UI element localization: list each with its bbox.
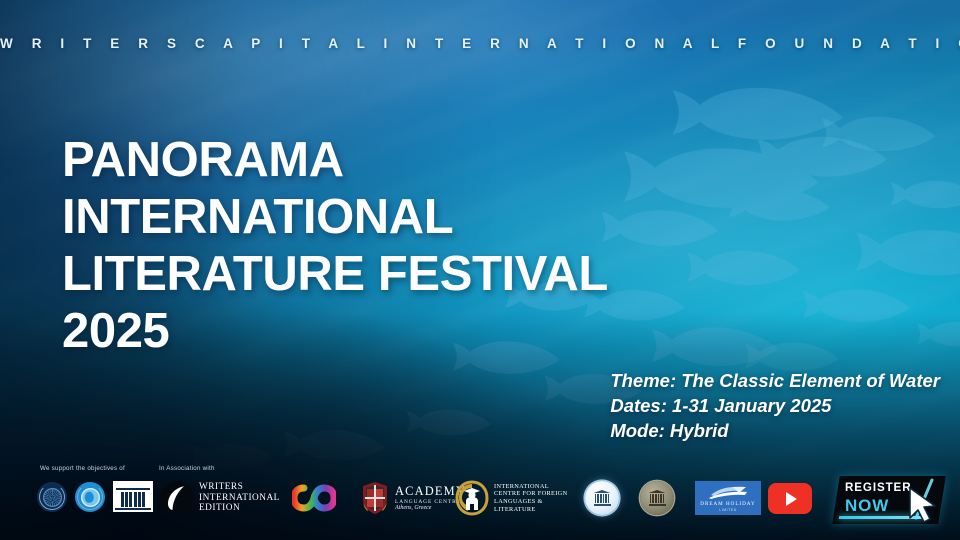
logo-academy-language-centre[interactable]: ACADEMY LANGUAGE CENTRE Athens, Greece	[360, 481, 466, 515]
play-button-icon	[768, 483, 812, 514]
quill-feather-icon	[160, 481, 194, 515]
shield-crest-icon	[360, 481, 390, 515]
icfll-line-4: LITERATURE	[494, 506, 567, 514]
logo-olive-institute[interactable]	[640, 481, 674, 515]
association-label: In Association with	[159, 465, 215, 472]
wie-line-2: INTERNATIONAL	[199, 493, 280, 504]
detail-mode: Mode: Hybrid	[610, 418, 940, 443]
temple-building-icon	[585, 481, 619, 515]
festival-poster: W R I T E R S C A P I T A L I N T E R N …	[0, 0, 960, 540]
logo-icfll[interactable]: INTERNATIONAL CENTRE FOR FOREIGN LANGUAG…	[455, 480, 567, 516]
dream-line-2: LIMITED	[719, 508, 736, 512]
logo-unicef[interactable]	[75, 482, 105, 512]
wie-line-3: EDITION	[199, 503, 280, 514]
organization-name: W R I T E R S C A P I T A L I N T E R N …	[0, 36, 960, 51]
icfll-line-3: LANGUAGES &	[494, 498, 567, 506]
wave-boat-icon: DREAM HOLIDAY LIMITED	[695, 481, 761, 515]
infinity-icon	[292, 484, 336, 512]
title-line-1: PANORAMA	[62, 132, 608, 189]
icfll-line-1: INTERNATIONAL	[494, 483, 567, 491]
logo-un[interactable]	[37, 482, 67, 512]
logo-youtube[interactable]	[768, 483, 812, 514]
icfll-text: INTERNATIONAL CENTRE FOR FOREIGN LANGUAG…	[494, 483, 567, 513]
title-line-3: LITERATURE FESTIVAL	[62, 246, 608, 303]
support-label: We support the objectives of	[40, 465, 125, 472]
logo-infinity[interactable]	[292, 484, 336, 512]
logo-unesco[interactable]	[113, 481, 153, 512]
graduate-figure-icon	[455, 480, 489, 516]
logo-dream-holiday[interactable]: DREAM HOLIDAY LIMITED	[695, 481, 761, 515]
dream-line-1: DREAM HOLIDAY	[700, 501, 755, 507]
partner-logo-strip: We support the objectives of In Associat…	[0, 448, 960, 540]
unicef-globe-icon	[75, 482, 105, 512]
wie-text: WRITERS INTERNATIONAL EDITION	[199, 482, 280, 514]
event-details: Theme: The Classic Element of Water Date…	[610, 368, 940, 443]
detail-theme: Theme: The Classic Element of Water	[610, 368, 940, 393]
mouse-pointer-icon	[902, 478, 944, 526]
icfll-line-2: CENTRE FOR FOREIGN	[494, 490, 567, 498]
temple-building-icon	[640, 481, 674, 515]
wie-line-1: WRITERS	[199, 482, 280, 493]
unesco-temple-icon	[113, 481, 153, 512]
page-title: PANORAMA INTERNATIONAL LITERATURE FESTIV…	[62, 132, 608, 360]
detail-dates: Dates: 1-31 January 2025	[610, 393, 940, 418]
register-now-button[interactable]: REGISTER NOW	[836, 476, 942, 524]
un-globe-wreath-icon	[37, 482, 67, 512]
title-line-2: INTERNATIONAL	[62, 189, 608, 246]
logo-blue-institute[interactable]	[585, 481, 619, 515]
title-line-4: 2025	[62, 303, 608, 360]
logo-writers-international-edition[interactable]: WRITERS INTERNATIONAL EDITION	[160, 481, 280, 515]
